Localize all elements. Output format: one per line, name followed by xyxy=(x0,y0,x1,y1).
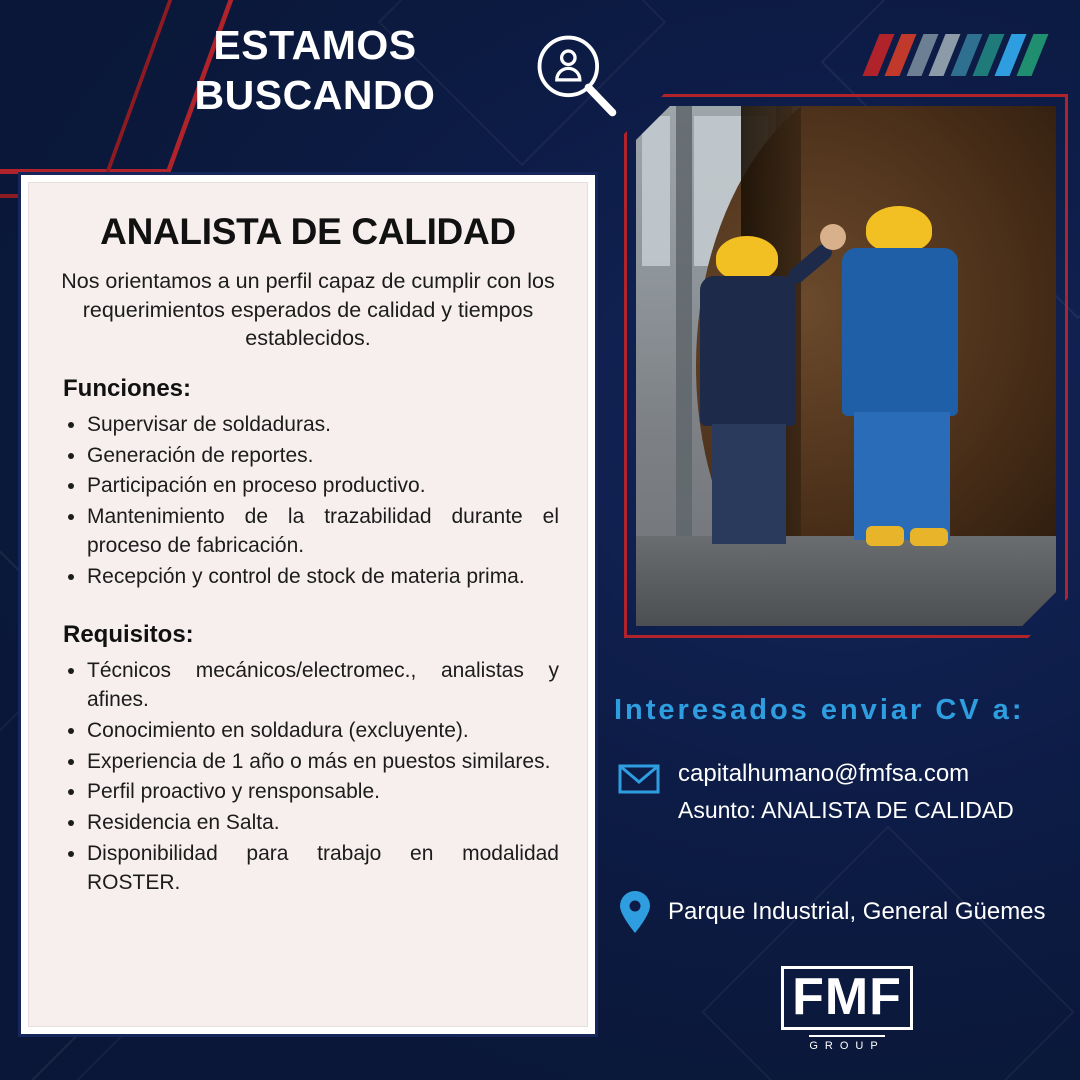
map-pin-icon xyxy=(618,890,652,934)
photo-container xyxy=(636,106,1056,626)
logo-subtitle: GROUP xyxy=(809,1035,884,1052)
functions-list: Supervisar de soldaduras.Generación de r… xyxy=(61,411,561,592)
list-item: Residencia en Salta. xyxy=(87,809,561,838)
list-item: Recepción y control de stock de materia … xyxy=(87,563,561,592)
page-title: ESTAMOS BUSCANDO xyxy=(150,20,480,120)
job-intro: Nos orientamos a un perfil capaz de cump… xyxy=(57,267,559,353)
email-address[interactable]: capitalhumano@fmfsa.com xyxy=(678,760,1014,788)
job-title: ANALISTA DE CALIDAD xyxy=(55,211,561,253)
list-item: Conocimiento en soldadura (excluyente). xyxy=(87,717,561,746)
functions-heading: Funciones: xyxy=(63,375,561,403)
company-logo: FMF GROUP xyxy=(772,966,922,1054)
location-text: Parque Industrial, General Güemes xyxy=(668,898,1046,926)
cv-call-to-action: Interesados enviar CV a: xyxy=(614,694,1074,727)
location-row: Parque Industrial, General Güemes xyxy=(618,890,1078,934)
workers-photo xyxy=(636,106,1056,626)
headline-line-1: ESTAMOS xyxy=(150,20,480,70)
requirements-list: Técnicos mecánicos/electromec., analista… xyxy=(61,657,561,897)
slash-decoration xyxy=(871,34,1040,76)
list-item: Generación de reportes. xyxy=(87,442,561,471)
list-item: Mantenimiento de la trazabilidad durante… xyxy=(87,503,561,561)
email-subject: Asunto: ANALISTA DE CALIDAD xyxy=(678,797,1014,824)
list-item: Técnicos mecánicos/electromec., analista… xyxy=(87,657,561,715)
list-item: Disponibilidad para trabajo en modalidad… xyxy=(87,840,561,898)
email-row[interactable]: capitalhumano@fmfsa.com Asunto: ANALISTA… xyxy=(618,760,1078,824)
magnifier-person-icon xyxy=(528,28,624,124)
list-item: Perfil proactivo y rensponsable. xyxy=(87,778,561,807)
list-item: Experiencia de 1 año o más en puestos si… xyxy=(87,748,561,777)
logo-name: FMF xyxy=(781,966,913,1030)
envelope-icon xyxy=(618,764,660,794)
headline-line-2: BUSCANDO xyxy=(150,70,480,120)
requirements-heading: Requisitos: xyxy=(63,621,561,649)
job-card: ANALISTA DE CALIDAD Nos orientamos a un … xyxy=(18,172,598,1037)
list-item: Participación en proceso productivo. xyxy=(87,472,561,501)
list-item: Supervisar de soldaduras. xyxy=(87,411,561,440)
